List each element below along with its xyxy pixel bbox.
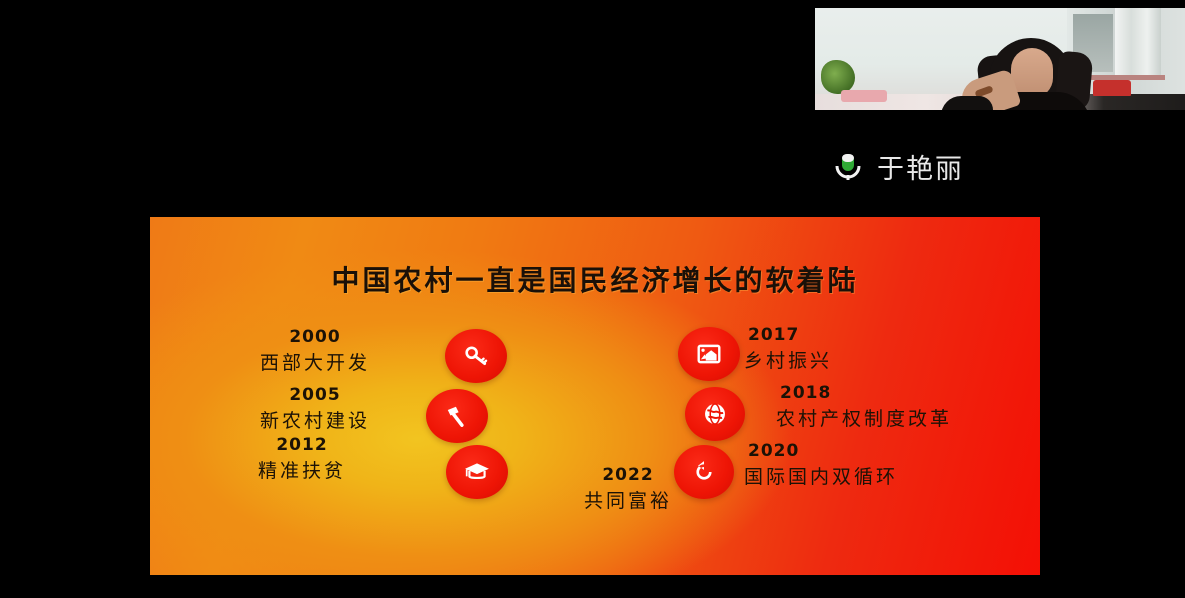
meeting-screen-share-view: 于艳丽 中国农村一直是国民经济增长的软着陆 2000 西部大开发 2005 新农… <box>0 0 1185 598</box>
year-2017: 2017 <box>748 325 832 345</box>
timeline-label-2020: 2020 国际国内双循环 <box>744 441 898 489</box>
node-2017[interactable] <box>678 327 740 381</box>
text-2020: 国际国内双循环 <box>744 462 898 489</box>
video-room-background <box>815 8 1185 110</box>
text-2018: 农村产权制度改革 <box>776 404 952 431</box>
node-2020[interactable] <box>674 445 734 499</box>
node-2018[interactable] <box>685 387 745 441</box>
participant-person <box>963 38 1101 110</box>
node-2000[interactable] <box>445 329 507 383</box>
curtain <box>1115 8 1161 80</box>
timeline-label-2017: 2017 乡村振兴 <box>744 325 832 373</box>
text-2005: 新农村建设 <box>260 406 370 433</box>
house-icon <box>696 341 722 367</box>
speaker-name: 于艳丽 <box>877 147 964 186</box>
year-2012: 2012 <box>258 435 346 455</box>
text-2012: 精准扶贫 <box>258 456 346 483</box>
year-2005: 2005 <box>260 385 370 405</box>
participant-video-tile[interactable] <box>815 8 1185 110</box>
timeline-label-2005: 2005 新农村建设 <box>260 385 370 433</box>
year-2018: 2018 <box>780 383 952 403</box>
year-2020: 2020 <box>748 441 898 461</box>
microphone-active-icon <box>833 151 863 183</box>
node-2005[interactable] <box>426 389 488 443</box>
timeline-label-2012: 2012 精准扶贫 <box>258 435 346 483</box>
presentation-slide: 中国农村一直是国民经济增长的软着陆 2000 西部大开发 2005 新农村建设 … <box>150 217 1040 575</box>
refresh-cycle-icon <box>691 459 717 485</box>
timeline-label-2018: 2018 农村产权制度改革 <box>776 383 952 431</box>
text-2000: 西部大开发 <box>260 348 370 375</box>
graduation-cap-icon <box>464 459 490 485</box>
text-2017: 乡村振兴 <box>744 346 832 373</box>
timeline-label-2000: 2000 西部大开发 <box>260 327 370 375</box>
year-2000: 2000 <box>260 327 370 347</box>
globe-icon <box>702 401 728 427</box>
slide-title: 中国农村一直是国民经济增长的软着陆 <box>150 259 1040 299</box>
plant <box>821 60 855 94</box>
node-2012[interactable] <box>446 445 508 499</box>
active-speaker-row: 于艳丽 <box>833 147 964 186</box>
key-icon <box>463 343 489 369</box>
hammer-icon <box>444 403 470 429</box>
desk-object-pink <box>841 90 887 102</box>
